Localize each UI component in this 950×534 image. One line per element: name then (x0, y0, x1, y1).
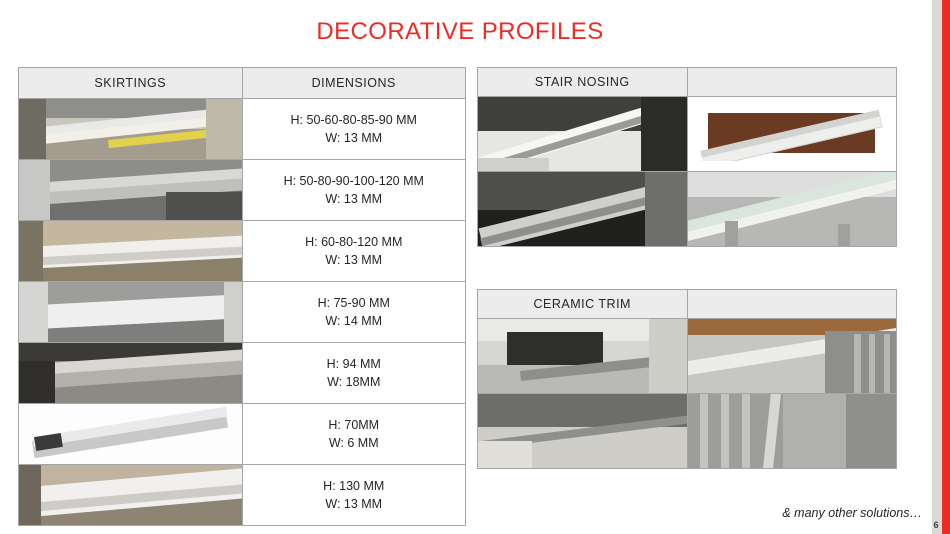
ceramic-trim-block: CERAMIC TRIM (477, 289, 897, 469)
stair-nosing-table: STAIR NOSING (477, 67, 897, 247)
dimension-width: W: 13 MM (245, 190, 464, 208)
table-row: H: 130 MM W: 13 MM (19, 465, 466, 526)
table-row (478, 319, 897, 394)
ceramic-trim-table: CERAMIC TRIM (477, 289, 897, 469)
skirting-profile-photo-3 (19, 221, 243, 282)
dimension-height: H: 60-80-120 MM (245, 233, 464, 251)
table-row: H: 94 MM W: 18MM (19, 343, 466, 404)
skirtings-table: SKIRTINGS DIMENSIONS H: 50-60-80-85-90 M… (18, 67, 466, 526)
dimension-height: H: 94 MM (245, 355, 464, 373)
table-row (478, 394, 897, 469)
dimension-width: W: 14 MM (245, 312, 464, 330)
skirting-profile-photo-1 (19, 99, 243, 160)
dimension-cell: H: 70MM W: 6 MM (242, 404, 466, 465)
table-row: H: 50-80-90-100-120 MM W: 13 MM (19, 160, 466, 221)
table-row: H: 75-90 MM W: 14 MM (19, 282, 466, 343)
table-row (478, 97, 897, 172)
dimension-height: H: 70MM (245, 416, 464, 434)
dimension-height: H: 50-60-80-85-90 MM (245, 111, 464, 129)
stair-nosing-photo-1 (478, 97, 688, 172)
stair-nosing-photo-4 (687, 172, 897, 247)
dimension-cell: H: 130 MM W: 13 MM (242, 465, 466, 526)
dimensions-header: DIMENSIONS (242, 68, 466, 99)
dimension-width: W: 13 MM (245, 495, 464, 513)
ceramic-trim-photo-1 (478, 319, 688, 394)
dimension-width: W: 13 MM (245, 129, 464, 147)
dimension-width: W: 6 MM (245, 434, 464, 452)
right-edge-gray-bar (932, 0, 942, 534)
stair-nosing-photo-2 (687, 97, 897, 172)
table-row: H: 50-60-80-85-90 MM W: 13 MM (19, 99, 466, 160)
page-title: DECORATIVE PROFILES (0, 18, 920, 46)
dimension-cell: H: 60-80-120 MM W: 13 MM (242, 221, 466, 282)
stair-nosing-header: STAIR NOSING (478, 68, 688, 97)
skirting-profile-photo-5 (19, 343, 243, 404)
skirting-profile-photo-4 (19, 282, 243, 343)
skirting-profile-photo-7 (19, 465, 243, 526)
table-header-row: STAIR NOSING (478, 68, 897, 97)
right-edge-red-bar (942, 0, 950, 534)
dimension-cell: H: 50-60-80-85-90 MM W: 13 MM (242, 99, 466, 160)
table-header-row: CERAMIC TRIM (478, 290, 897, 319)
stair-nosing-header-blank (687, 68, 897, 97)
footnote-text: & many other solutions… (782, 506, 922, 520)
stair-nosing-photo-3 (478, 172, 688, 247)
dimension-width: W: 13 MM (245, 251, 464, 269)
dimension-cell: H: 50-80-90-100-120 MM W: 13 MM (242, 160, 466, 221)
dimension-cell: H: 75-90 MM W: 14 MM (242, 282, 466, 343)
skirting-profile-photo-2 (19, 160, 243, 221)
skirting-profile-photo-6 (19, 404, 243, 465)
dimension-height: H: 130 MM (245, 477, 464, 495)
slide-canvas: DECORATIVE PROFILES SKIRTINGS DIMENSIONS (0, 0, 950, 534)
dimension-height: H: 75-90 MM (245, 294, 464, 312)
dimension-width: W: 18MM (245, 373, 464, 391)
skirtings-header: SKIRTINGS (19, 68, 243, 99)
ceramic-trim-header: CERAMIC TRIM (478, 290, 688, 319)
ceramic-trim-photo-3 (478, 394, 688, 469)
dimension-cell: H: 94 MM W: 18MM (242, 343, 466, 404)
stair-nosing-block: STAIR NOSING (477, 67, 897, 247)
ceramic-trim-header-blank (687, 290, 897, 319)
table-row (478, 172, 897, 247)
table-row: H: 70MM W: 6 MM (19, 404, 466, 465)
table-header-row: SKIRTINGS DIMENSIONS (19, 68, 466, 99)
ceramic-trim-photo-4 (687, 394, 897, 469)
dimension-height: H: 50-80-90-100-120 MM (245, 172, 464, 190)
ceramic-trim-photo-2 (687, 319, 897, 394)
table-row: H: 60-80-120 MM W: 13 MM (19, 221, 466, 282)
page-number: 6 (931, 520, 941, 530)
